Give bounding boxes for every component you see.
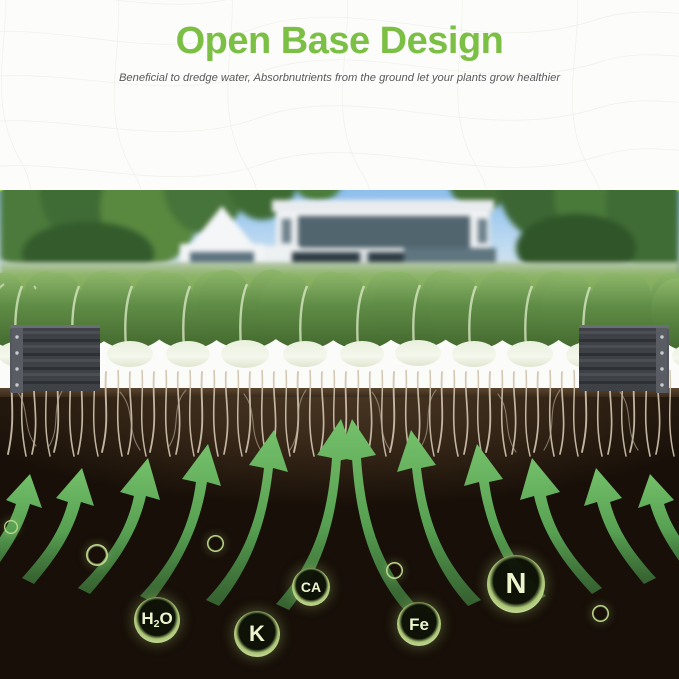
bok-choy-row: [0, 262, 679, 382]
page-title: Open Base Design: [0, 20, 679, 63]
badge-h2o-suffix: O: [159, 610, 172, 627]
nutrient-ring-3: [386, 562, 403, 579]
badge-n: N: [487, 555, 545, 613]
badge-ca-label: CA: [301, 580, 321, 594]
page-subtitle: Beneficial to dredge water, Absorbnutrie…: [0, 72, 679, 84]
raised-garden-bed-left: [8, 325, 100, 397]
badge-fe: Fe: [397, 602, 441, 646]
badge-fe-label: Fe: [409, 616, 429, 633]
nutrient-ring-4: [592, 605, 609, 622]
badge-n-label: N: [506, 570, 527, 599]
badge-k: K: [234, 611, 280, 657]
header: Open Base Design Beneficial to dredge wa…: [0, 0, 679, 190]
badge-h2o: H2O: [134, 597, 180, 643]
nutrient-ring-2: [207, 535, 224, 552]
nutrient-uptake-arrows: [0, 400, 679, 640]
nutrient-ring-5: [4, 520, 18, 534]
badge-ca: CA: [292, 568, 330, 606]
badge-h2o-label: H: [141, 610, 153, 627]
product-infographic: Open Base Design Beneficial to dredge wa…: [0, 0, 679, 679]
raised-garden-bed-right: [579, 325, 671, 397]
badge-k-label: K: [249, 623, 265, 645]
nutrient-ring-1: [86, 544, 108, 566]
